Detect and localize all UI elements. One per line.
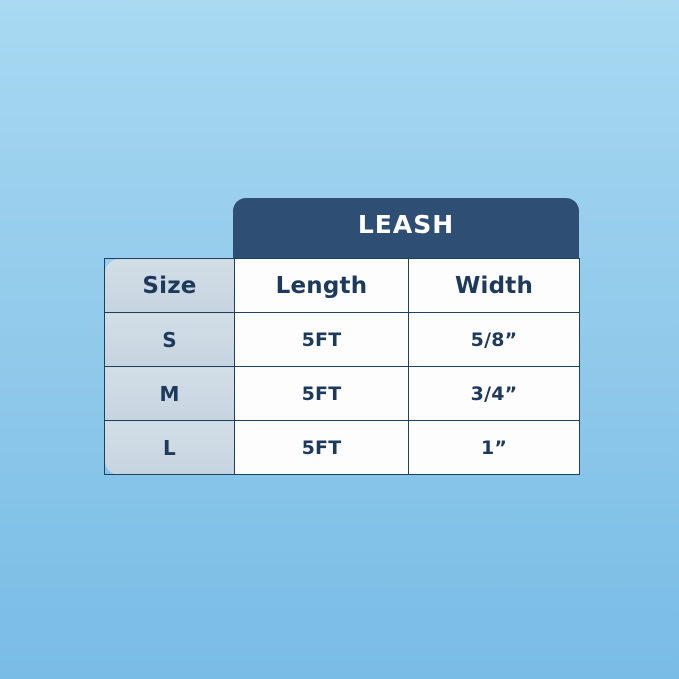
chart-title: LEASH [233,210,579,240]
cell-width-s: 5/8” [409,313,580,367]
cell-size-m: M [105,367,235,421]
cell-size-l: L [105,421,235,475]
column-header-size: Size [105,259,235,313]
cell-size-s: S [105,313,235,367]
column-header-length: Length [235,259,409,313]
size-chart-canvas: LEASH Size Length Width S [0,0,679,679]
column-header-width: Width [409,259,580,313]
leash-size-chart: LEASH Size Length Width S [103,198,580,478]
size-table-wrapper: Size Length Width S 5FT 5/8” M 5FT 3/4” [104,258,579,478]
cell-length-s: 5FT [235,313,409,367]
table-row: S 5FT 5/8” [105,313,580,367]
cell-length-l: 5FT [235,421,409,475]
table-row: M 5FT 3/4” [105,367,580,421]
chart-title-bar: LEASH [233,198,579,260]
size-table: Size Length Width S 5FT 5/8” M 5FT 3/4” [104,258,580,475]
table-header-row: Size Length Width [105,259,580,313]
cell-length-m: 5FT [235,367,409,421]
cell-width-l: 1” [409,421,580,475]
cell-width-m: 3/4” [409,367,580,421]
table-row: L 5FT 1” [105,421,580,475]
